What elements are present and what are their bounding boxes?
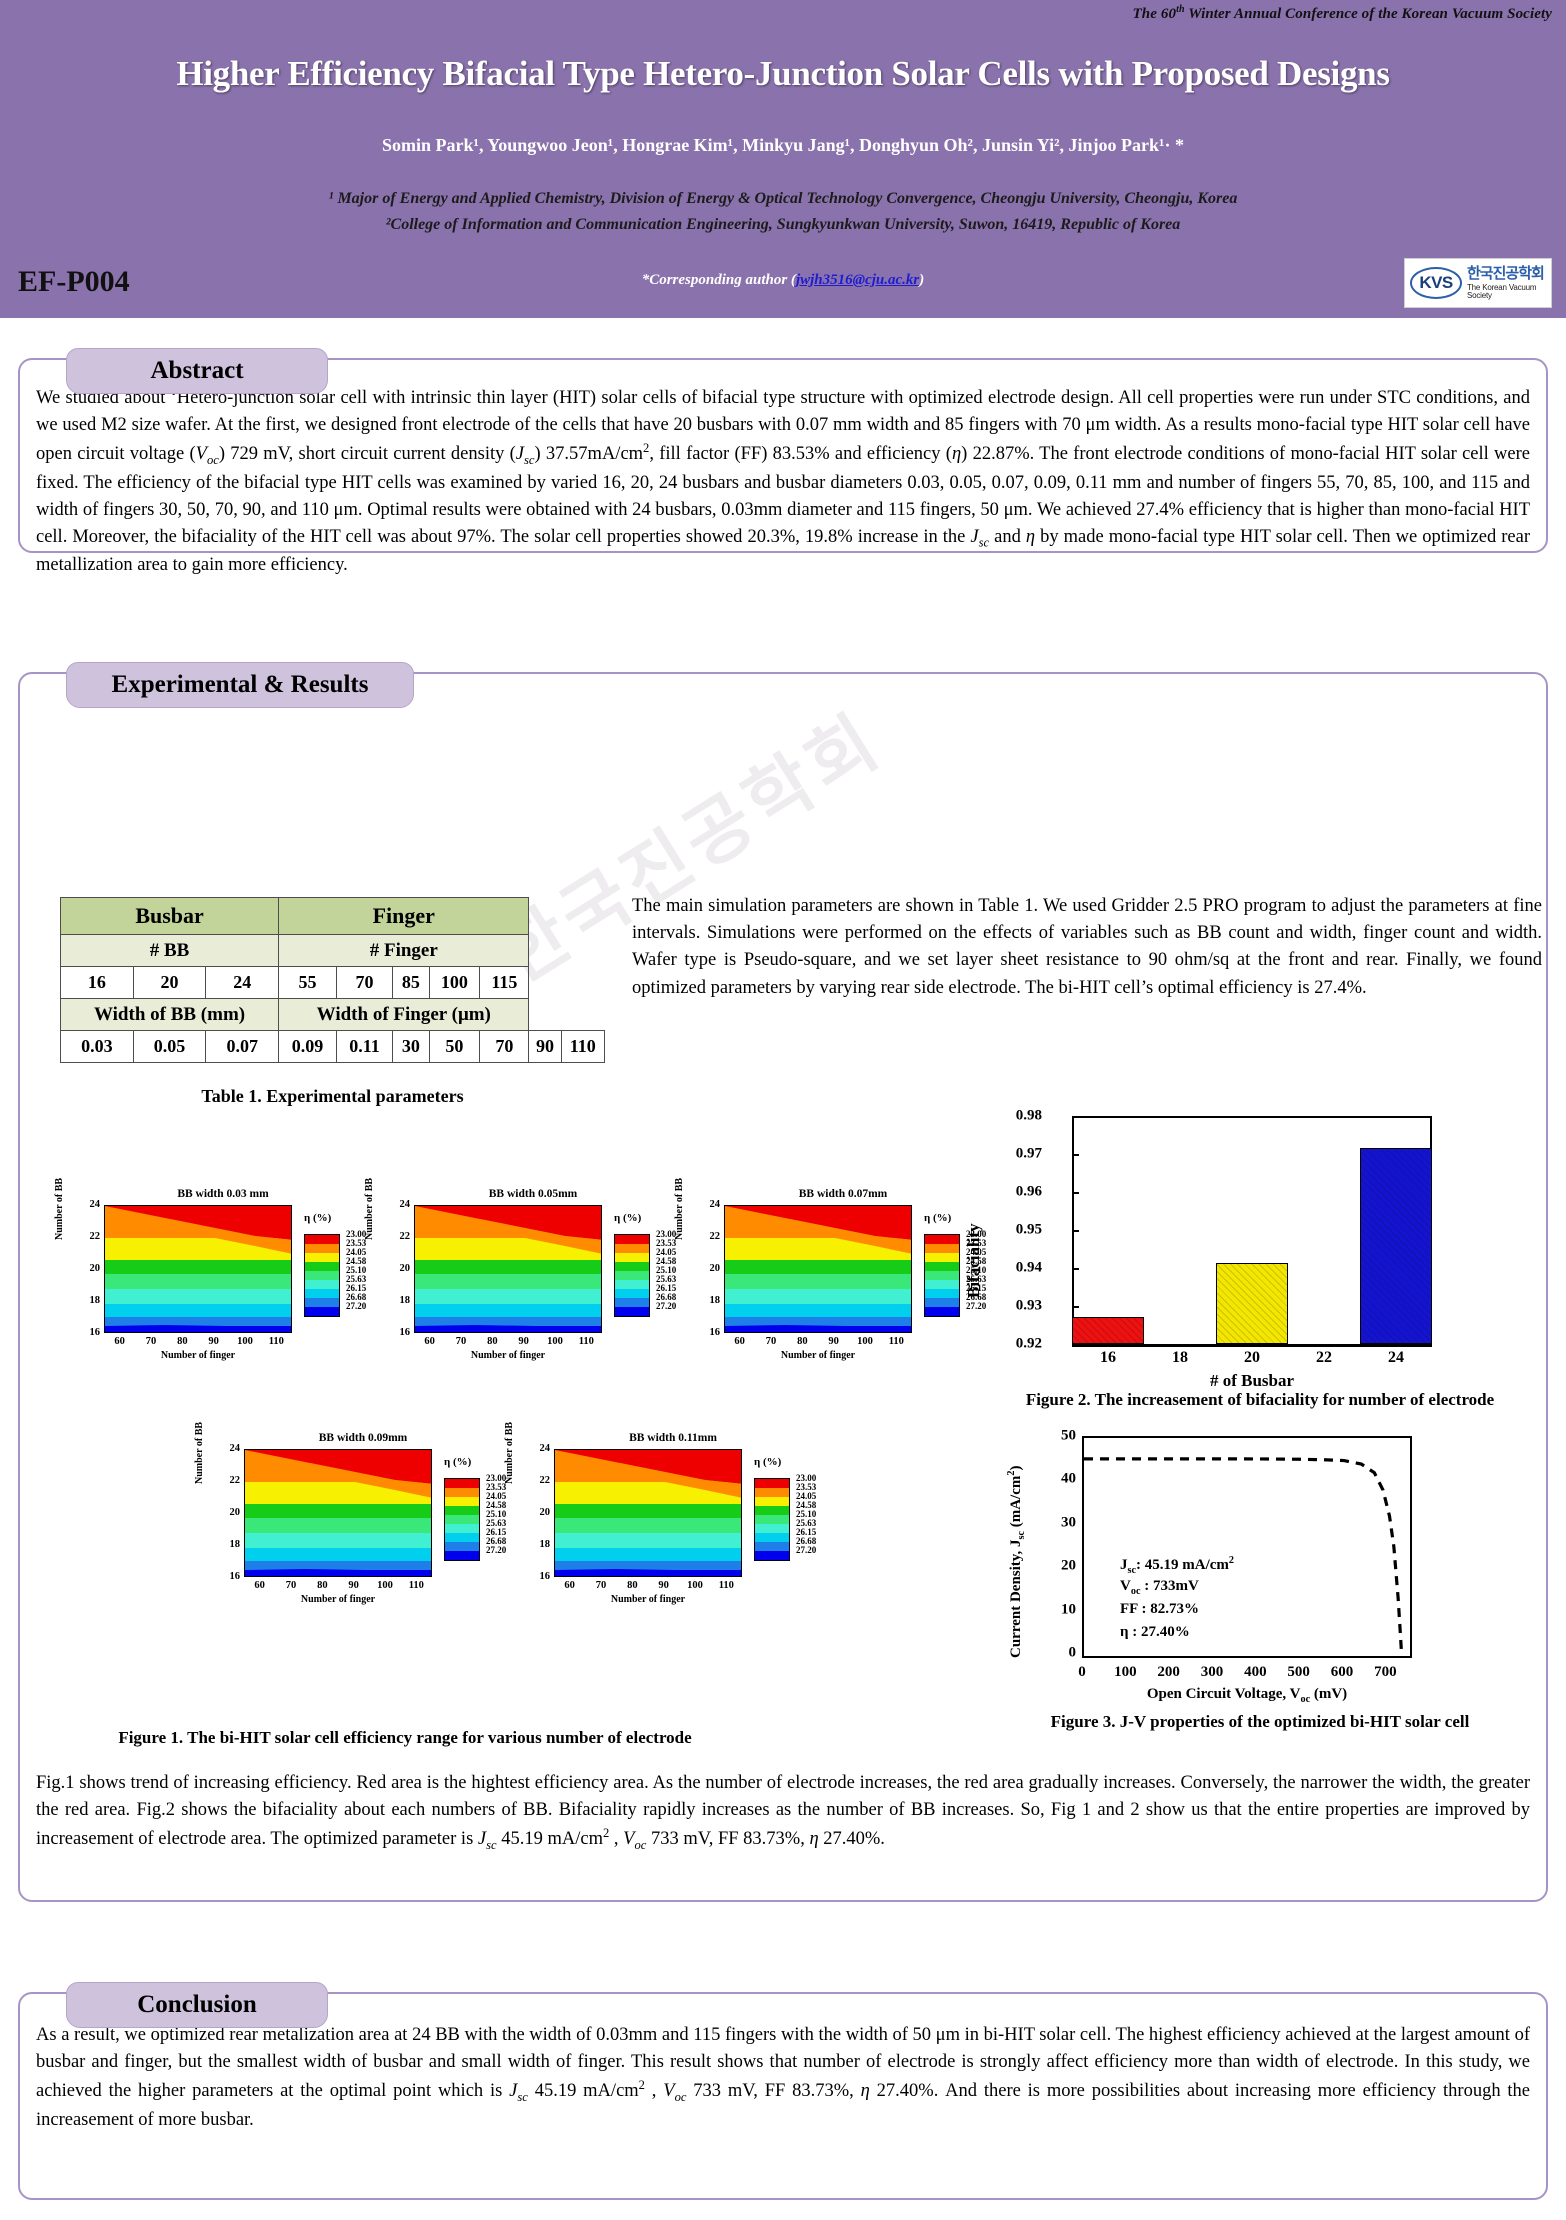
fig2-y-tick-mark: [1072, 1344, 1079, 1346]
contour-y-tick: 22: [710, 1231, 721, 1242]
contour-y-tick: 20: [400, 1263, 411, 1274]
contour-y-tick: 22: [400, 1231, 411, 1242]
fig2-y-tick-mark: [1072, 1116, 1079, 1118]
contour-x-tick: 70: [146, 1336, 157, 1347]
contour-x-tick: 70: [596, 1580, 607, 1591]
contour-plot-area: [554, 1449, 742, 1577]
contour-y-tick: 16: [230, 1571, 241, 1582]
fig2-y-tick: 0.94: [1016, 1260, 1042, 1277]
table-label-width-bb: Width of BB (mm): [61, 999, 279, 1031]
contour-plot-area: [244, 1449, 432, 1577]
contour-x-axis-label: Number of finger: [104, 1350, 292, 1361]
table-group-busbar: Busbar: [61, 898, 279, 935]
table-cell: 30: [393, 1031, 429, 1063]
contour-x-tick: 90: [208, 1336, 219, 1347]
fig3-y-tick: 50: [1061, 1428, 1076, 1445]
contour-title: BB width 0.03 mm: [58, 1188, 388, 1200]
contour-shape-overlay: [105, 1206, 292, 1333]
contour-x-tick: 110: [409, 1580, 424, 1591]
fig3-jv-curve-svg: [1084, 1438, 1409, 1655]
table-cell: 115: [480, 967, 529, 999]
fig3-y-tick: 20: [1061, 1558, 1076, 1575]
contour-x-tick: 60: [114, 1336, 125, 1347]
fig2-x-tick: 16: [1100, 1349, 1116, 1367]
contour-y-tick: 24: [90, 1199, 101, 1210]
table-cell: 0.05: [133, 1031, 206, 1063]
fig1-contour-d: BB width 0.09mmNumber of BBNumber of fin…: [198, 1432, 528, 1612]
contour-x-tick: 110: [719, 1580, 734, 1591]
fig2-x-tick: 22: [1316, 1349, 1332, 1367]
abstract-text: We studied about ‘Hetero-junction solar …: [18, 385, 1548, 579]
fig2-y-tick-mark: [1072, 1154, 1079, 1156]
table-cell: 70: [480, 1031, 529, 1063]
legend-value: 27.20: [486, 1546, 506, 1555]
table-row: 0.03 0.05 0.07 0.09 0.11 30 50 70 90 110: [61, 1031, 605, 1063]
contour-x-tick: 110: [269, 1336, 284, 1347]
fig2-y-tick: 0.92: [1016, 1336, 1042, 1353]
contour-shape-overlay: [725, 1206, 912, 1333]
fig2-bar: [1216, 1263, 1288, 1344]
fig2-x-tick: 24: [1388, 1349, 1404, 1367]
table-cell: 85: [393, 967, 429, 999]
kvs-mark-icon: KVS: [1410, 267, 1462, 299]
fig2-y-tick: 0.96: [1016, 1184, 1042, 1201]
figure-2-caption: Figure 2. The increasement of bifacialit…: [1000, 1390, 1520, 1410]
contour-x-tick: 110: [579, 1336, 594, 1347]
contour-y-tick: 16: [90, 1327, 101, 1338]
contour-y-axis-label: Number of BB: [504, 1422, 515, 1484]
contour-x-tick: 80: [627, 1580, 638, 1591]
legend-value: 27.20: [966, 1302, 986, 1311]
fig2-y-tick: 0.93: [1016, 1298, 1042, 1315]
corresponding-email-link[interactable]: jwjh3516@cju.ac.kr: [796, 272, 919, 288]
table-cell: 90: [529, 1031, 561, 1063]
contour-legend-values: 23.0023.5324.0524.5825.1025.6326.1526.68…: [346, 1230, 366, 1311]
fig2-y-axis-label: Bifaciality: [964, 1223, 984, 1298]
table-cell: 0.09: [279, 1031, 337, 1063]
fig3-y-axis-label: Current Density, Jsc (mA/cm2): [1006, 1466, 1027, 1658]
table-row: Width of BB (mm) Width of Finger (μm): [61, 999, 605, 1031]
kvs-logo: KVS 한국진공학회 The Korean Vacuum Society: [1404, 258, 1552, 308]
fig2-x-axis: [1072, 1344, 1432, 1347]
contour-y-tick: 18: [90, 1295, 101, 1306]
table-cell: 100: [429, 967, 480, 999]
author-list: Somin Park¹, Youngwoo Jeon¹, Hongrae Kim…: [0, 135, 1566, 156]
fig3-x-tick: 400: [1244, 1664, 1267, 1681]
fig2-y-tick: 0.95: [1016, 1222, 1042, 1239]
contour-y-axis-label: Number of BB: [674, 1178, 685, 1240]
contour-title: BB width 0.05mm: [368, 1188, 698, 1200]
contour-legend-title: η (%): [444, 1456, 471, 1468]
contour-y-tick: 22: [540, 1475, 551, 1486]
contour-y-tick: 18: [710, 1295, 721, 1306]
fig1-contour-c: BB width 0.07mmNumber of BBNumber of fin…: [678, 1188, 1008, 1368]
contour-x-tick: 60: [254, 1580, 265, 1591]
experimental-paragraph: The main simulation parameters are shown…: [632, 893, 1542, 1002]
fig3-x-tick: 200: [1157, 1664, 1180, 1681]
fig2-y-tick-mark: [1072, 1192, 1079, 1194]
contour-x-tick: 90: [348, 1580, 359, 1591]
fig3-y-tick: 10: [1061, 1601, 1076, 1618]
contour-x-tick: 70: [286, 1580, 297, 1591]
contour-legend-swatches: [304, 1234, 340, 1317]
fig3-annotation-ff: FF : 82.73%: [1120, 1601, 1199, 1618]
contour-y-tick: 16: [540, 1571, 551, 1582]
contour-x-tick: 80: [487, 1336, 498, 1347]
table-cell: 50: [429, 1031, 480, 1063]
table-cell: 0.07: [206, 1031, 279, 1063]
contour-y-axis-label: Number of BB: [364, 1178, 375, 1240]
experimental-parameters-table: Busbar Finger # BB # Finger 16 20 24 55 …: [60, 897, 605, 1063]
contour-legend-swatches: [444, 1478, 480, 1561]
figure-1-caption: Figure 1. The bi-HIT solar cell efficien…: [55, 1728, 755, 1748]
contour-y-tick: 18: [230, 1539, 241, 1550]
fig2-x-axis-label: # of Busbar: [1072, 1371, 1432, 1391]
contour-x-tick: 100: [377, 1580, 393, 1591]
fig3-x-tick: 300: [1201, 1664, 1224, 1681]
contour-shape-overlay: [245, 1450, 432, 1577]
contour-y-tick: 18: [540, 1539, 551, 1550]
page-title: Higher Efficiency Bifacial Type Hetero-J…: [0, 54, 1566, 94]
contour-x-tick: 80: [317, 1580, 328, 1591]
fig3-x-tick: 100: [1114, 1664, 1137, 1681]
fig3-annotation-voc: Voc : 733mV: [1120, 1578, 1199, 1597]
fig3-x-tick: 600: [1331, 1664, 1354, 1681]
contour-legend-values: 23.0023.5324.0524.5825.1025.6326.1526.68…: [656, 1230, 676, 1311]
contour-legend-title: η (%): [304, 1212, 331, 1224]
contour-x-tick: 110: [889, 1336, 904, 1347]
table-cell: 70: [336, 967, 392, 999]
contour-legend-values: 23.0023.5324.0524.5825.1025.6326.1526.68…: [796, 1474, 816, 1555]
table-row: 16 20 24 55 70 85 100 115: [61, 967, 605, 999]
fig2-x-tick: 20: [1244, 1349, 1260, 1367]
contour-x-tick: 80: [177, 1336, 188, 1347]
table-cell: 0.11: [336, 1031, 392, 1063]
table-row: # BB # Finger: [61, 935, 605, 967]
figure-3-jv-chart: Current Density, Jsc (mA/cm2) Open Circu…: [1010, 1430, 1470, 1710]
contour-x-tick: 60: [734, 1336, 745, 1347]
kvs-logo-korean: 한국진공학회: [1467, 266, 1546, 281]
contour-plot-area: [414, 1205, 602, 1333]
fig2-y-tick-mark: [1072, 1268, 1079, 1270]
fig3-annotation-eta: η : 27.40%: [1120, 1624, 1190, 1641]
contour-legend-title: η (%): [614, 1212, 641, 1224]
table-label-count-bb: # BB: [61, 935, 279, 967]
contour-y-tick: 24: [710, 1199, 721, 1210]
contour-y-axis-label: Number of BB: [54, 1178, 65, 1240]
table-cell: 16: [61, 967, 134, 999]
figure-2-bifaciality-chart: Bifaciality # of Busbar 0.920.930.940.95…: [1010, 1108, 1470, 1398]
legend-value: 27.20: [796, 1546, 816, 1555]
corresponding-author: *Corresponding author (jwjh3516@cju.ac.k…: [0, 272, 1566, 289]
fig3-x-tick: 500: [1287, 1664, 1310, 1681]
contour-title: BB width 0.09mm: [198, 1432, 528, 1444]
fig3-x-tick: 700: [1374, 1664, 1397, 1681]
table-group-finger: Finger: [279, 898, 529, 935]
fig1-contour-a: BB width 0.03 mmNumber of BBNumber of fi…: [58, 1188, 388, 1368]
contour-y-tick: 20: [710, 1263, 721, 1274]
table-label-width-finger: Width of Finger (μm): [279, 999, 529, 1031]
contour-y-tick: 22: [90, 1231, 101, 1242]
contour-y-tick: 16: [710, 1327, 721, 1338]
contour-x-axis-label: Number of finger: [244, 1594, 432, 1605]
poster-header: The 60th Winter Annual Conference of the…: [0, 0, 1566, 318]
fig2-y-tick-mark: [1072, 1306, 1079, 1308]
fig3-x-axis-label: Open Circuit Voltage, Voc (mV): [1082, 1686, 1412, 1705]
table-cell: 0.03: [61, 1031, 134, 1063]
contour-legend-swatches: [754, 1478, 790, 1561]
contour-y-tick: 16: [400, 1327, 411, 1338]
contour-x-tick: 70: [456, 1336, 467, 1347]
fig2-x-tick: 18: [1172, 1349, 1188, 1367]
contour-x-tick: 80: [797, 1336, 808, 1347]
contour-y-tick: 24: [230, 1443, 241, 1454]
fig2-y-tick: 0.97: [1016, 1146, 1042, 1163]
contour-title: BB width 0.07mm: [678, 1188, 1008, 1200]
fig2-bar: [1072, 1317, 1144, 1344]
contour-y-tick: 18: [400, 1295, 411, 1306]
contour-x-axis-label: Number of finger: [414, 1350, 602, 1361]
section-header-experimental: Experimental & Results: [66, 662, 414, 708]
contour-x-tick: 60: [564, 1580, 575, 1591]
contour-y-tick: 24: [540, 1443, 551, 1454]
contour-legend-swatches: [614, 1234, 650, 1317]
table-cell: 55: [279, 967, 337, 999]
section-header-conclusion: Conclusion: [66, 1982, 328, 2028]
contour-legend-title: η (%): [754, 1456, 781, 1468]
contour-x-tick: 100: [547, 1336, 563, 1347]
kvs-logo-english: The Korean Vacuum Society: [1467, 284, 1546, 300]
contour-y-tick: 20: [230, 1507, 241, 1518]
affiliation-1: ¹ Major of Energy and Applied Chemistry,…: [0, 190, 1566, 208]
contour-y-tick: 20: [90, 1263, 101, 1274]
fig3-y-tick: 40: [1061, 1471, 1076, 1488]
contour-x-axis-label: Number of finger: [554, 1594, 742, 1605]
contour-x-tick: 100: [687, 1580, 703, 1591]
figure-3-caption: Figure 3. J-V properties of the optimize…: [1000, 1712, 1520, 1732]
contour-shape-overlay: [415, 1206, 602, 1333]
contour-legend-title: η (%): [924, 1212, 951, 1224]
fig1-contour-b: BB width 0.05mmNumber of BBNumber of fin…: [368, 1188, 698, 1368]
contour-x-tick: 100: [237, 1336, 253, 1347]
fig2-y-tick: 0.98: [1016, 1108, 1042, 1125]
legend-value: 27.20: [346, 1302, 366, 1311]
contour-x-tick: 70: [766, 1336, 777, 1347]
fig3-y-tick: 30: [1061, 1514, 1076, 1531]
contour-y-tick: 20: [540, 1507, 551, 1518]
affiliation-2: ²College of Information and Communicatio…: [0, 216, 1566, 234]
contour-x-axis-label: Number of finger: [724, 1350, 912, 1361]
contour-x-tick: 90: [658, 1580, 669, 1591]
table-cell: 20: [133, 967, 206, 999]
experimental-bottom-paragraph: Fig.1 shows trend of increasing efficien…: [36, 1770, 1530, 1855]
contour-y-tick: 24: [400, 1199, 411, 1210]
fig2-bar: [1360, 1148, 1432, 1344]
fig3-x-tick: 0: [1078, 1664, 1086, 1681]
contour-x-tick: 100: [857, 1336, 873, 1347]
fig3-annotation-jsc: Jsc: 45.19 mA/cm2: [1120, 1555, 1234, 1576]
fig2-y-tick-mark: [1072, 1230, 1079, 1232]
conference-name: The 60th Winter Annual Conference of the…: [1133, 4, 1552, 23]
fig1-contour-e: BB width 0.11mmNumber of BBNumber of fin…: [508, 1432, 838, 1612]
table-label-count-finger: # Finger: [279, 935, 529, 967]
contour-x-tick: 90: [518, 1336, 529, 1347]
contour-y-tick: 22: [230, 1475, 241, 1486]
table-cell: 24: [206, 967, 279, 999]
contour-x-tick: 90: [828, 1336, 839, 1347]
contour-plot-area: [724, 1205, 912, 1333]
legend-value: 27.20: [656, 1302, 676, 1311]
contour-y-axis-label: Number of BB: [194, 1422, 205, 1484]
section-header-abstract: Abstract: [66, 348, 328, 394]
table-cell: 110: [561, 1031, 604, 1063]
contour-plot-area: [104, 1205, 292, 1333]
contour-legend-swatches: [924, 1234, 960, 1317]
table-row: Busbar Finger: [61, 898, 605, 935]
conclusion-text: As a result, we optimized rear metalizat…: [18, 2022, 1548, 2134]
contour-x-tick: 60: [424, 1336, 435, 1347]
fig3-y-tick: 0: [1069, 1645, 1077, 1662]
contour-legend-values: 23.0023.5324.0524.5825.1025.6326.1526.68…: [486, 1474, 506, 1555]
table-caption: Table 1. Experimental parameters: [60, 1086, 605, 1107]
contour-title: BB width 0.11mm: [508, 1432, 838, 1444]
contour-shape-overlay: [555, 1450, 742, 1577]
